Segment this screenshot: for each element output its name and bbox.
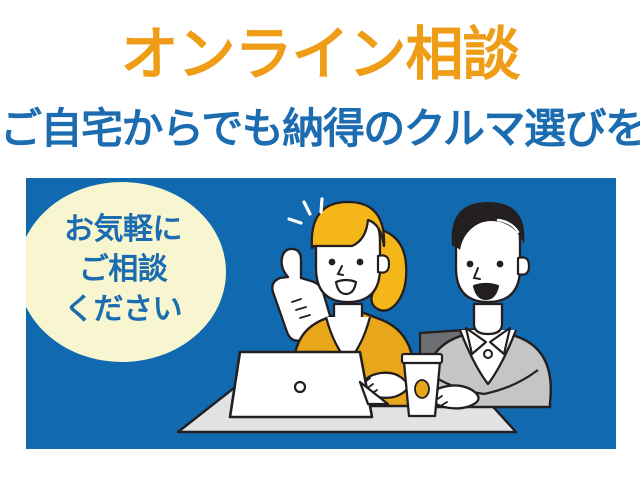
coffee-cup xyxy=(402,354,442,416)
woman-mouth xyxy=(336,280,356,294)
page-subtitle: ご自宅からでも納得のクルマ選びを xyxy=(0,107,640,151)
cup-logo xyxy=(415,380,429,398)
woman-eye-right xyxy=(357,259,364,266)
page-title: オンライン相談 xyxy=(0,26,640,84)
man-shirt-button xyxy=(484,350,492,358)
badge-ellipse xyxy=(26,182,226,362)
man-neck xyxy=(474,304,502,334)
cup-lid xyxy=(402,354,442,363)
man-eye-right xyxy=(497,261,504,268)
man-ear xyxy=(518,257,529,274)
man-eye-left xyxy=(467,261,474,268)
consultation-illustration xyxy=(26,178,616,449)
illustration-panel xyxy=(26,178,616,449)
woman-ear xyxy=(378,255,389,272)
laptop-logo xyxy=(295,382,305,392)
banner-root: オンライン相談 ご自宅からでも納得のクルマ選びを xyxy=(0,0,640,480)
woman-eye-left xyxy=(329,259,336,266)
